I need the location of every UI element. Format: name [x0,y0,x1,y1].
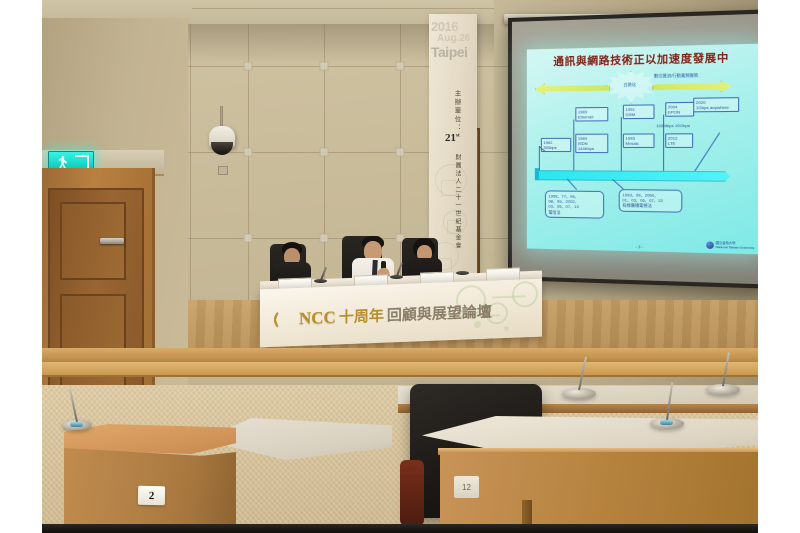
chair-armrest [400,460,424,526]
banner-year: 2016 [431,20,458,33]
wall-panel-node [244,234,253,243]
desk-placard-right: 12 [454,476,479,498]
microphone-pod [660,420,673,425]
wall-panel-node [320,148,329,157]
burst-label: 白熱化 [610,82,650,89]
foreground-desk-right-front [440,452,758,533]
door-handle[interactable] [100,238,124,244]
ncc-signal-wave-icon [274,309,296,330]
banner-text-group: NCC 十周年 回顧與展望論壇 [274,301,492,330]
wall-panel-node [396,62,405,71]
microphone-pod [70,422,83,427]
screenshot-root: 2016 Aug.26 Taipei 主辦單位： 21st 財團法人二十一世紀基… [0,0,800,533]
right-arrow-shape [652,80,732,93]
wall-panel-node [320,234,329,243]
screen-surface: 通訊與網路技術正以加速度發展中 白熱化 數位匯流/行動寬頻服務 1962300b… [512,14,758,285]
timeline-box: 20201Gbps anywhere [693,97,739,112]
banner-brand: NCC [299,307,336,328]
timeline-box: 2004EPON [665,102,694,117]
callout-box: 1958、77、96、98、99、2002、03、05、07、13電信法 [544,190,603,218]
university-seal-icon [706,241,714,249]
timeline-box: 1993Mosaic [622,133,654,148]
timeline-box: 1991GSM [622,104,654,119]
speed-note: 100Mbps 10Gbps [656,123,690,128]
timeline-box: 1983Ethernet [575,107,608,122]
slide-university-logo: 國立臺灣大學 National Taiwan University [706,241,755,250]
banner-organizer-name: 財團法人二十一世紀基金會 [448,154,460,250]
wall-panel-line [190,24,191,314]
photo-bottom-edge [42,524,758,533]
head-table-banner: NCC 十周年 回顧與展望論壇 [260,279,542,348]
timeline-arrow-bar [536,170,729,182]
banner-forum-title: 回顧與展望論壇 [387,301,492,326]
right-arrow-note: 數位匯流/行動寬頻服務 [654,72,698,79]
desk-placard-left: 2 [138,486,165,505]
foreground-desk-left-side [192,452,236,533]
projection-screen: 通訊與網路技術正以加速度發展中 白熱化 數位匯流/行動寬頻服務 1962300b… [508,9,758,289]
banner-organizer-label: 主辦單位： [448,90,460,133]
camera-wall-bracket [218,166,228,175]
banner-date: Aug.26 [437,33,470,44]
university-name: 國立臺灣大學 National Taiwan University [716,242,755,250]
timeline-box: 2012LTE [665,133,693,148]
banner-anniversary: 十周年 [339,305,384,328]
slide-title: 通訊與網路技術正以加速度發展中 [526,49,758,70]
banner-city: Taipei [431,44,467,60]
timeline-bar-cap [534,168,538,180]
stage-step-tread [42,362,758,377]
callout-box: 1993、99、2000、01、03、06、07、15有線廣播電視法 [618,189,682,212]
conference-hall-photo: 2016 Aug.26 Taipei 主辦單位： 21st 財團法人二十一世紀基… [42,0,758,533]
wall-panel-node [244,148,253,157]
left-arrow-shape [534,82,609,94]
wall-panel-node [320,62,329,71]
presentation-slide: 通訊與網路技術正以加速度發展中 白熱化 數位匯流/行動寬頻服務 1962300b… [526,44,758,255]
timeline-box: 1984ISDN144Kbps [575,134,608,153]
running-man-icon [58,156,68,168]
wall-panel-node [396,148,405,157]
table-microphone-base [456,271,469,275]
wall-panel-node [244,62,253,71]
banner-decor-dot [504,326,509,331]
banner-21-logo: 21st [445,132,460,144]
